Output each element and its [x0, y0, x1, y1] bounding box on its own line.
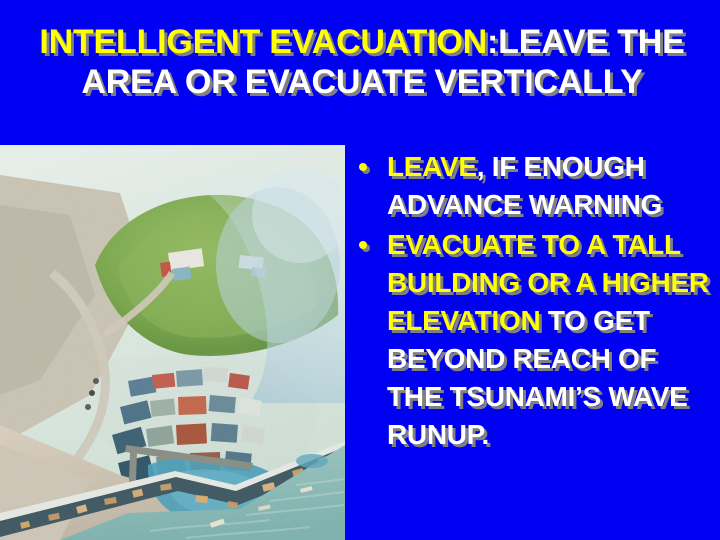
- bullet-dot-icon: [359, 241, 367, 249]
- bullet-text-1: LEAVE, IF ENOUGH ADVANCE WARNING: [387, 148, 715, 224]
- presentation-slide: INTELLIGENT EVACUATION:LEAVE THE AREA OR…: [0, 0, 720, 540]
- bullet-text-2: EVACUATE TO A TALL BUILDING OR A HIGHER …: [387, 226, 715, 454]
- title-rest-text: :LEAVE THE: [487, 23, 685, 61]
- title-line-1: INTELLIGENT EVACUATION:LEAVE THE: [12, 22, 712, 62]
- slide-title: INTELLIGENT EVACUATION:LEAVE THE AREA OR…: [12, 22, 712, 102]
- title-highlight-text: INTELLIGENT EVACUATION: [39, 23, 487, 61]
- slide-body-bullets: LEAVE, IF ENOUGH ADVANCE WARNING EVACUAT…: [355, 148, 715, 456]
- tsunami-damage-photo: [0, 145, 345, 540]
- list-item: LEAVE, IF ENOUGH ADVANCE WARNING: [355, 148, 715, 224]
- bullet-dot-icon: [359, 163, 367, 171]
- photo-graphic: [0, 145, 345, 540]
- list-item: EVACUATE TO A TALL BUILDING OR A HIGHER …: [355, 226, 715, 454]
- bullet-1-highlight: LEAVE: [387, 151, 477, 182]
- title-line-2: AREA OR EVACUATE VERTICALLY: [12, 62, 712, 102]
